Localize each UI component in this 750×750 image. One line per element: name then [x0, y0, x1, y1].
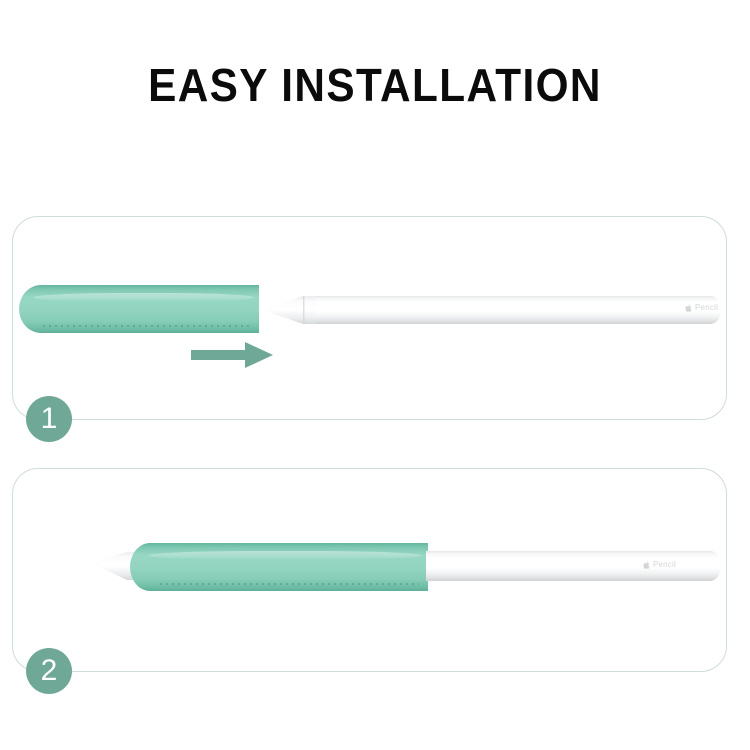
page-title-container: EASY INSTALLATION [0, 62, 750, 108]
silicone-sleeve-installed [130, 543, 428, 591]
apple-logo-icon [685, 304, 692, 312]
apple-logo-icon [643, 561, 650, 569]
step-badge-1-label: 1 [41, 404, 58, 434]
pencil-engraving-text: Pencil [653, 560, 676, 569]
pencil-engraving: Pencil [643, 560, 676, 569]
sleeve-grip-texture [43, 325, 252, 327]
step-badge-2: 2 [26, 648, 72, 694]
sleeve-highlight [148, 551, 422, 561]
direction-arrow-right [191, 342, 273, 368]
page-title: EASY INSTALLATION [30, 62, 720, 108]
step-panel-2: Pencil 2 [12, 468, 727, 672]
silicone-sleeve-detached [19, 285, 259, 333]
sleeve-highlight [33, 293, 254, 303]
step-2-illustration: Pencil [13, 469, 726, 671]
step-1-illustration: Pencil [13, 217, 726, 419]
step-1-stage: Pencil [13, 217, 726, 419]
step-badge-2-label: 2 [41, 656, 58, 686]
sleeve-grip-texture [160, 583, 419, 585]
pencil-engraving-text: Pencil [695, 303, 718, 312]
pencil-barrel [316, 296, 721, 324]
pencil-barrel [426, 551, 721, 581]
pencil-engraving: Pencil [685, 303, 718, 312]
step-panel-1: Pencil 1 [12, 216, 727, 420]
pencil-nib [263, 291, 319, 329]
step-2-stage: Pencil [13, 469, 726, 671]
step-badge-1: 1 [26, 396, 72, 442]
